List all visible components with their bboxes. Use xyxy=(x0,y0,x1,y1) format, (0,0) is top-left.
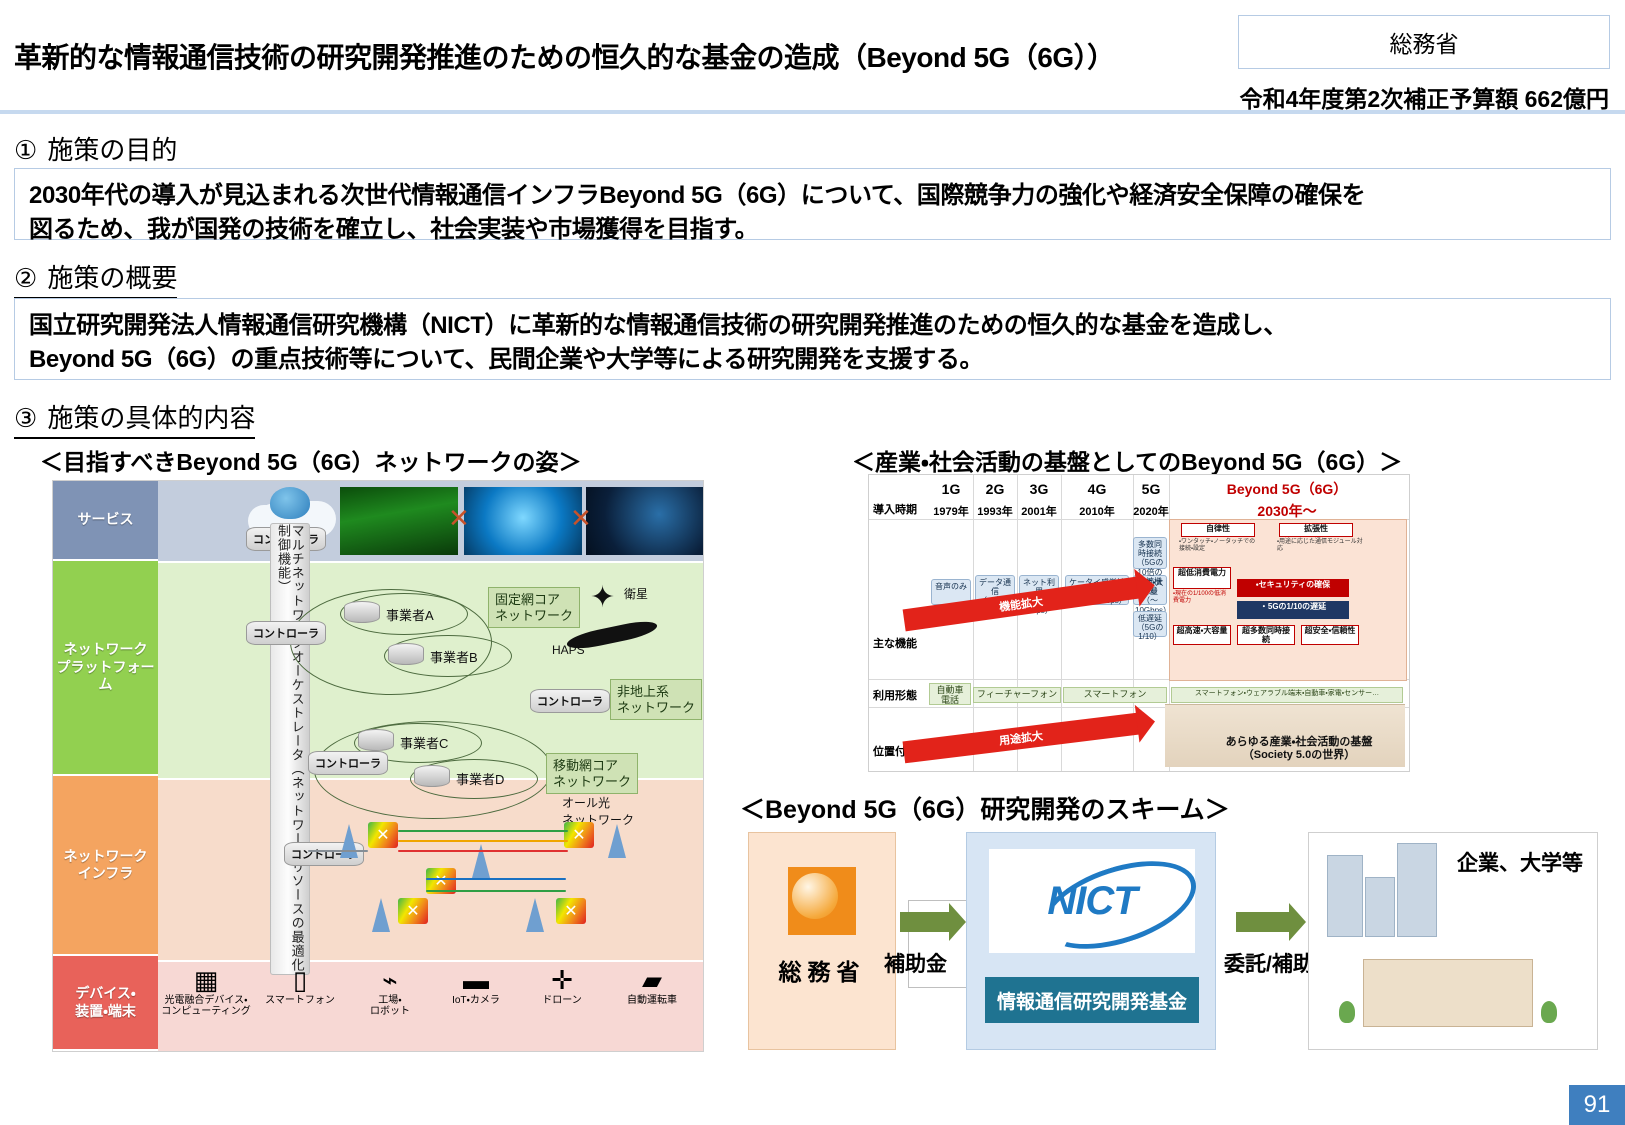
section-3-heading: ③施策の具体的内容 xyxy=(14,398,255,439)
satellite-icon: ✦ xyxy=(590,583,615,613)
entrust-arrow xyxy=(1236,912,1290,932)
section-2-title: 施策の概要 xyxy=(47,263,177,293)
building-icon-3 xyxy=(1397,843,1437,937)
section-2-line-2: Beyond 5G（6G）の重点技術等について、民間企業や大学等による研究開発を… xyxy=(29,343,1596,377)
beyond-feature-label-4: 超多数同時接続 xyxy=(1237,625,1295,645)
antenna-icon-3 xyxy=(608,824,626,858)
usage-chip-2: スマートフォン xyxy=(1063,687,1167,703)
generations-subheading: ＜産業・社会活動の基盤としてのBeyond 5G（6G）＞ xyxy=(852,443,1402,477)
device-item-0: ▦ 光電融合デバイス・ コンピューティング xyxy=(160,966,252,1017)
robot-arm-icon: ⌁ xyxy=(344,966,436,994)
network-vision-subheading: ＜目指すべきBeyond 5G（6G）ネットワークの姿＞ xyxy=(40,443,581,477)
function-chip-5: 多数同時接続 （5Gの10倍の接続機器数） xyxy=(1133,537,1167,569)
society-label: あらゆる産業・社会活動の基盤 （Society 5.0の世界） xyxy=(1199,736,1399,764)
ntn-network-box: 非地上系 ネットワーク xyxy=(610,679,702,720)
gen-header-2g: 2G xyxy=(973,481,1017,497)
function-chip-6: 低遅延 （5Gの1/10） xyxy=(1133,611,1167,637)
layer-service: サービス xyxy=(53,481,158,561)
beyond-feature-label-0: 自律性 xyxy=(1181,523,1255,537)
gen-header-1g: 1G xyxy=(929,481,973,497)
beyond-feature-label-3: 超高速・大容量 xyxy=(1173,625,1231,645)
ministry-badge: 総務省 xyxy=(1238,15,1610,69)
device-label-5: 自動運転車 xyxy=(606,995,698,1006)
device-label-1: スマートフォン xyxy=(254,995,346,1006)
device-item-5: ▰ 自動運転車 xyxy=(606,966,698,1006)
section-1-line-1: 2030年代の導入が見込まれる次世代情報通信インフラBeyond 5G（6G）に… xyxy=(29,179,1596,213)
mesh-link-4 xyxy=(426,878,566,880)
mesh-link-1 xyxy=(398,830,568,832)
beyond-feature-label-1: 拡張性 xyxy=(1279,523,1353,537)
subsidy-arrow-label: 補助金 xyxy=(884,948,947,978)
gen-year-2g: 1993年 xyxy=(971,503,1019,519)
server-icon-a xyxy=(344,601,380,623)
beyond-feature-label-2: 超低消費電力 xyxy=(1173,567,1231,589)
university-icon xyxy=(1363,959,1533,1027)
device-item-1: ▯ スマートフォン xyxy=(254,966,346,1006)
slide-page: 革新的な情報通信技術の研究開発推進のための恒久的な基金の造成（Beyond 5G… xyxy=(0,0,1625,1125)
page-title: 革新的な情報通信技術の研究開発推進のための恒久的な基金の造成（Beyond 5G… xyxy=(14,36,1115,76)
ministry-logo-icon xyxy=(788,867,856,935)
row-label-intro: 導入時期 xyxy=(873,501,917,517)
operator-label-b: 事業者B xyxy=(430,647,478,666)
operator-label-c: 事業者C xyxy=(400,733,448,752)
device-label-3: IoT・カメラ xyxy=(430,995,522,1006)
optical-node-3: ✕ xyxy=(564,822,594,848)
operator-label-a: 事業者A xyxy=(386,605,434,624)
gen-year-5g: 2020年 xyxy=(1129,503,1173,519)
section-1-title: 施策の目的 xyxy=(47,135,177,165)
device-label-4: ドローン xyxy=(516,995,608,1006)
haps-label: HAPS xyxy=(552,643,585,657)
section-3-title: 施策の具体的内容 xyxy=(47,403,255,433)
device-item-2: ⌁ 工場・ ロボット xyxy=(344,966,436,1017)
building-icon-1 xyxy=(1327,855,1363,937)
server-icon-b xyxy=(388,643,424,665)
scheme-corporations-label: 企業、大学等 xyxy=(1457,847,1583,877)
section-2-line-1: 国立研究開発法人情報通信研究機構（NICT）に革新的な情報通信技術の研究開発推進… xyxy=(29,309,1596,343)
tree-icon-1 xyxy=(1339,1001,1355,1023)
figure-stage: コントローラ ✕ ✕ マルチネットワークオーケストレータ（ネットワークリソースの… xyxy=(158,481,703,1051)
ministry-label: 総務省 xyxy=(1390,25,1459,59)
scheme-nict-node: NICT 情報通信研究開発基金 xyxy=(966,832,1216,1050)
fund-label: 情報通信研究開発基金 xyxy=(985,977,1199,1023)
beyond-feature-navy: ・5Gの1/10の遅延 xyxy=(1237,601,1349,619)
gen-header-5g: 5G xyxy=(1131,481,1171,497)
layer-device: デバイス・ 装置・端末 xyxy=(53,956,158,1051)
optical-mesh: オール光 ネットワーク コントローラ ✕ ✕ ✕ ✕ ✕ xyxy=(158,780,703,960)
chip-icon: ▦ xyxy=(160,966,252,994)
section-1-number: ① xyxy=(14,135,37,165)
nict-logo-text: NICT xyxy=(1047,879,1136,924)
antenna-icon-1 xyxy=(340,824,358,858)
usage-expansion-arrow-label: 用途拡大 xyxy=(998,727,1044,748)
service-tile-blue xyxy=(464,487,582,555)
function-expansion-arrow-label: 機能拡大 xyxy=(998,593,1044,615)
usage-chip-0: 自動車 電話 xyxy=(929,683,971,705)
subsidy-arrow xyxy=(900,912,950,932)
row-label-functions: 主な機能 xyxy=(873,635,917,651)
section-2-heading: ②施策の概要 xyxy=(14,258,177,299)
optical-node-1: ✕ xyxy=(368,822,398,848)
usage-chip-3: スマートフォン・ウェアラブル端末・自動車・家電・センサー… xyxy=(1171,687,1403,703)
controller-platform-2: コントローラ xyxy=(308,751,388,775)
layer-column: サービス ネットワーク プラットフォーム ネットワーク インフラ デバイス・ 装… xyxy=(53,481,158,1051)
antenna-icon-5 xyxy=(526,898,544,932)
scheme-ministry-node: 総務省 xyxy=(748,832,896,1050)
server-icon-c xyxy=(358,729,394,751)
service-tile-dark xyxy=(586,487,704,555)
generations-figure: 導入時期 主な機能 利用形態 位置付け 1G 2G 3G 4G 5G 1979年… xyxy=(868,474,1410,772)
scheme-ministry-label: 総務省 xyxy=(749,953,895,987)
gen-year-1g: 1979年 xyxy=(927,503,975,519)
cross-mark-icon-2: ✕ xyxy=(570,505,592,531)
building-icon-2 xyxy=(1365,877,1395,937)
beyond-feature-label-5: 超安全・信頼性 xyxy=(1301,625,1359,645)
mesh-link-3 xyxy=(398,850,568,852)
scheme-subheading: ＜Beyond 5G（6G）研究開発のスキーム＞ xyxy=(740,790,1230,826)
mesh-link-5 xyxy=(426,890,566,892)
service-tile-green xyxy=(340,487,458,555)
section-3-number: ③ xyxy=(14,403,37,433)
beyond-feature-detail-1: ・用途に応じた通信モジュール対応 xyxy=(1277,539,1363,553)
tree-icon-2 xyxy=(1541,1001,1557,1023)
mesh-link-6 xyxy=(308,850,368,852)
row-label-usage: 利用形態 xyxy=(873,687,917,703)
controller-platform-1: コントローラ xyxy=(246,621,326,645)
section-1-body: 2030年代の導入が見込まれる次世代情報通信インフラBeyond 5G（6G）に… xyxy=(14,168,1611,240)
beyond5g-title: Beyond 5G（6G） xyxy=(1169,479,1405,499)
optical-node-4: ✕ xyxy=(398,898,428,924)
cross-mark-icon-1: ✕ xyxy=(448,505,470,531)
network-vision-figure: サービス ネットワーク プラットフォーム ネットワーク インフラ デバイス・ 装… xyxy=(52,480,704,1052)
layer-network-infra: ネットワーク インフラ xyxy=(53,776,158,956)
beyond-feature-detail-2: ・現在の1/100の低消費電力 xyxy=(1173,591,1231,605)
entrust-arrow-label: 委託/補助 xyxy=(1224,948,1314,978)
beyond5g-year: 2030年～ xyxy=(1169,501,1405,521)
page-number: 91 xyxy=(1569,1085,1625,1125)
nict-ring-icon xyxy=(1032,844,1208,966)
gen-year-3g: 2001年 xyxy=(1015,503,1063,519)
gen-header-4g: 4G xyxy=(1061,481,1133,497)
device-row: ▦ 光電融合デバイス・ コンピューティング ▯ スマートフォン ⌁ 工場・ ロボ… xyxy=(158,962,703,1051)
usage-chip-1: フィーチャーフォン xyxy=(973,687,1061,703)
device-item-4: ✛ ドローン xyxy=(516,966,608,1006)
gen-year-4g: 2010年 xyxy=(1061,503,1133,519)
device-item-3: ▬ IoT・カメラ xyxy=(430,966,522,1006)
gen-header-3g: 3G xyxy=(1017,481,1061,497)
section-1-heading: ①施策の目的 xyxy=(14,130,177,171)
beyond-feature-highlight: ・セキュリティの確保 xyxy=(1237,579,1349,597)
brain-icon xyxy=(270,487,310,519)
optical-node-5: ✕ xyxy=(556,898,586,924)
header-divider xyxy=(0,110,1625,114)
section-1-line-2: 図るため、我が国発の技術を確立し、社会実装や市場獲得を目指す。 xyxy=(29,213,1596,247)
budget-amount: 令和4年度第2次補正予算額 662億円 xyxy=(1240,80,1609,114)
device-label-0: 光電融合デバイス・ コンピューティング xyxy=(160,995,252,1017)
car-icon: ▰ xyxy=(606,966,698,994)
controller-ntn: コントローラ xyxy=(530,689,610,713)
antenna-icon-4 xyxy=(372,898,390,932)
scheme-corporations-node: 企業、大学等 xyxy=(1308,832,1598,1050)
beyond-feature-detail-0: ・ワンタッチ・ノータッチでの接続・設定 xyxy=(1179,539,1259,553)
device-label-2: 工場・ ロボット xyxy=(344,995,436,1017)
layer-network-platform: ネットワーク プラットフォーム xyxy=(53,561,158,776)
camera-icon: ▬ xyxy=(430,966,522,994)
section-2-number: ② xyxy=(14,263,37,293)
nict-logo: NICT xyxy=(989,849,1195,953)
drone-icon: ✛ xyxy=(516,966,608,994)
section-2-body: 国立研究開発法人情報通信研究機構（NICT）に革新的な情報通信技術の研究開発推進… xyxy=(14,298,1611,380)
mesh-link-2 xyxy=(398,840,568,842)
fixed-core-network-box: 固定網コア ネットワーク xyxy=(488,587,580,628)
satellite-label: 衛星 xyxy=(624,585,648,602)
smartphone-icon: ▯ xyxy=(254,966,346,994)
